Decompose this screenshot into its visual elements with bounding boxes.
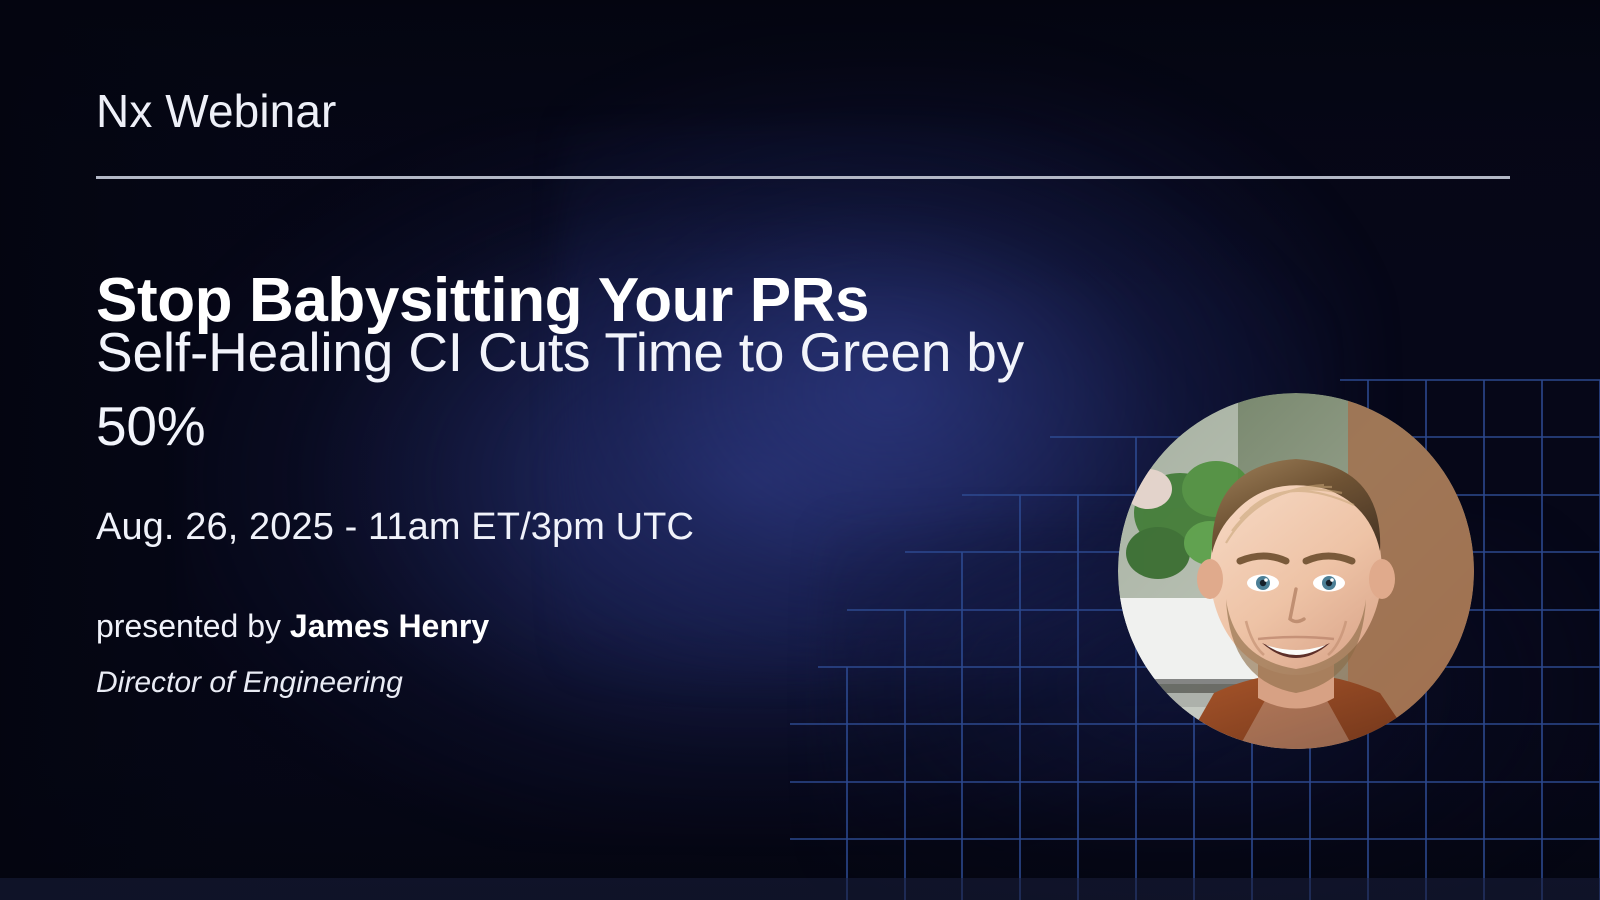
webinar-promo-card: Nx Webinar Stop Babysitting Your PRs Sel… <box>0 0 1600 900</box>
presenter-name: James Henry <box>290 608 489 644</box>
bottom-band <box>0 878 1600 900</box>
presenter-line: presented by James Henry <box>96 610 489 642</box>
event-datetime: Aug. 26, 2025 - 11am ET/3pm UTC <box>96 508 694 546</box>
presented-by-label: presented by <box>96 608 290 644</box>
avatar <box>1118 393 1474 749</box>
presenter-role: Director of Engineering <box>96 668 403 698</box>
horizontal-rule-icon <box>96 176 1510 179</box>
subtitle: Self-Healing CI Cuts Time to Green by 50… <box>96 316 1106 463</box>
eyebrow-label: Nx Webinar <box>96 88 336 134</box>
